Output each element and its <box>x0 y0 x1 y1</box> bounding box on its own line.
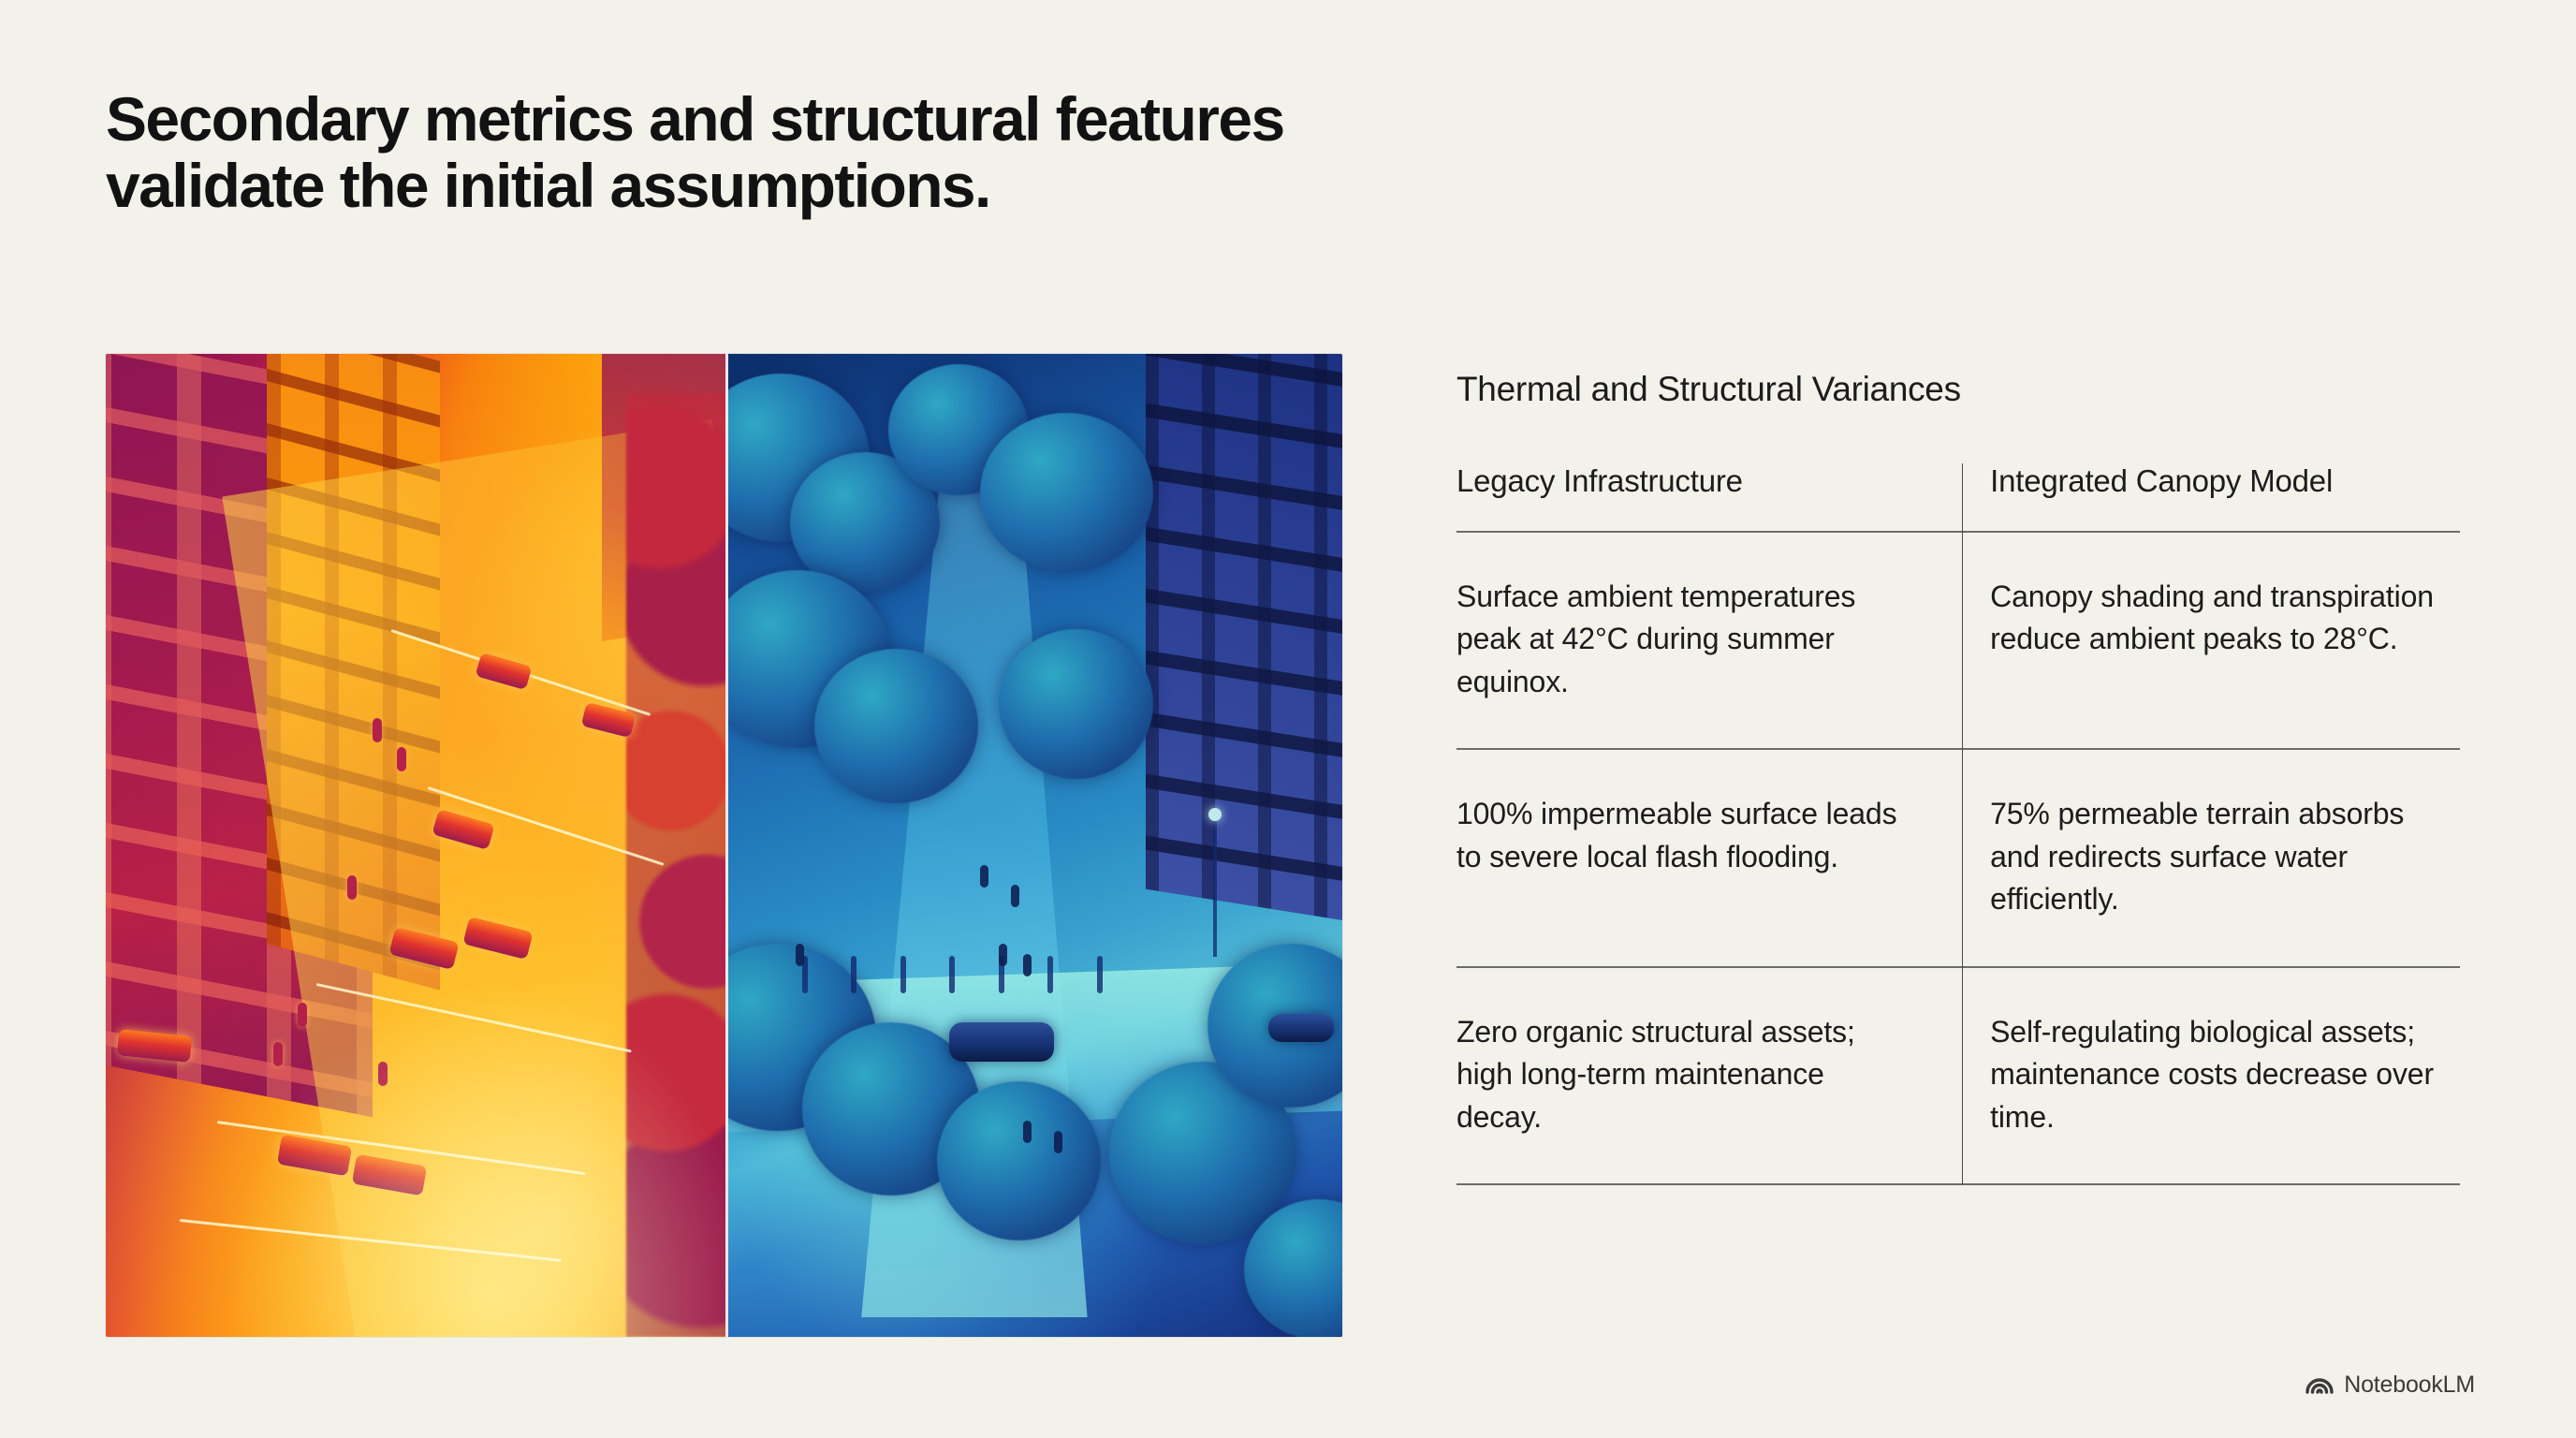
table-header-row: Legacy Infrastructure Integrated Canopy … <box>1456 463 2460 531</box>
thermal-heat-glow <box>106 354 725 1337</box>
canopy-tree <box>999 629 1153 779</box>
canopy-pedestrian <box>796 944 804 966</box>
notebooklm-label: NotebookLM <box>2344 1372 2475 1399</box>
variance-table-section: Thermal and Structural Variances Legacy … <box>1456 370 2460 1185</box>
cell-legacy-thermal: Surface ambient temperatures peak at 42°… <box>1456 533 1958 748</box>
canopy-bollard <box>1047 956 1053 993</box>
variance-table: Legacy Infrastructure Integrated Canopy … <box>1456 463 2460 1185</box>
canopy-street-lamp <box>1213 816 1217 957</box>
section-title: Thermal and Structural Variances <box>1456 370 2460 409</box>
cell-legacy-assets: Zero organic structural assets; high lon… <box>1456 968 1958 1183</box>
table-row: 100% impermeable surface leads to severe… <box>1456 750 2460 965</box>
canopy-pedestrian <box>1054 1131 1062 1153</box>
canopy-pedestrian <box>1023 1121 1032 1143</box>
canopy-pedestrian <box>1011 885 1019 907</box>
canopy-pedestrian <box>980 865 988 888</box>
canopy-tree <box>937 1081 1101 1240</box>
page-title-line-2: validate the initial assumptions. <box>106 153 1884 219</box>
slide-canvas: Secondary metrics and structural feature… <box>0 0 2576 1438</box>
canopy-bollard <box>949 956 955 993</box>
page-title: Secondary metrics and structural feature… <box>106 86 1884 218</box>
table-row: Zero organic structural assets; high lon… <box>1456 968 2460 1183</box>
column-header-canopy: Integrated Canopy Model <box>1958 463 2460 531</box>
canopy-bollard <box>1097 956 1103 993</box>
canopy-tree <box>980 413 1153 572</box>
canopy-bollard <box>851 956 856 993</box>
canopy-vehicle <box>1268 1014 1334 1042</box>
notebooklm-brand: NotebookLM <box>2305 1371 2475 1399</box>
canopy-tree <box>814 649 978 803</box>
table-row: Surface ambient temperatures peak at 42°… <box>1456 533 2460 748</box>
cell-canopy-assets: Self-regulating biological assets; maint… <box>1958 968 2460 1183</box>
canopy-vehicle <box>949 1022 1054 1062</box>
canopy-bollard <box>900 956 906 993</box>
column-header-legacy: Legacy Infrastructure <box>1456 463 1958 531</box>
cell-canopy-permeability: 75% permeable terrain absorbs and redire… <box>1958 750 2460 965</box>
cell-legacy-permeability: 100% impermeable surface leads to severe… <box>1456 750 1958 965</box>
canopy-building <box>1146 354 1342 924</box>
canopy-pedestrian <box>999 944 1007 966</box>
table-rule <box>1456 1183 2460 1185</box>
thermal-infrared-street-view <box>106 354 725 1337</box>
cell-canopy-thermal: Canopy shading and transpiration reduce … <box>1958 533 2460 748</box>
comparison-image-panel <box>106 354 1342 1337</box>
canopy-corridor-cool-view <box>725 354 1342 1337</box>
page-title-line-1: Secondary metrics and structural feature… <box>106 86 1884 153</box>
canopy-pedestrian <box>1023 954 1032 976</box>
table-column-divider <box>1962 463 1963 1185</box>
notebooklm-spiral-icon <box>2305 1371 2334 1399</box>
